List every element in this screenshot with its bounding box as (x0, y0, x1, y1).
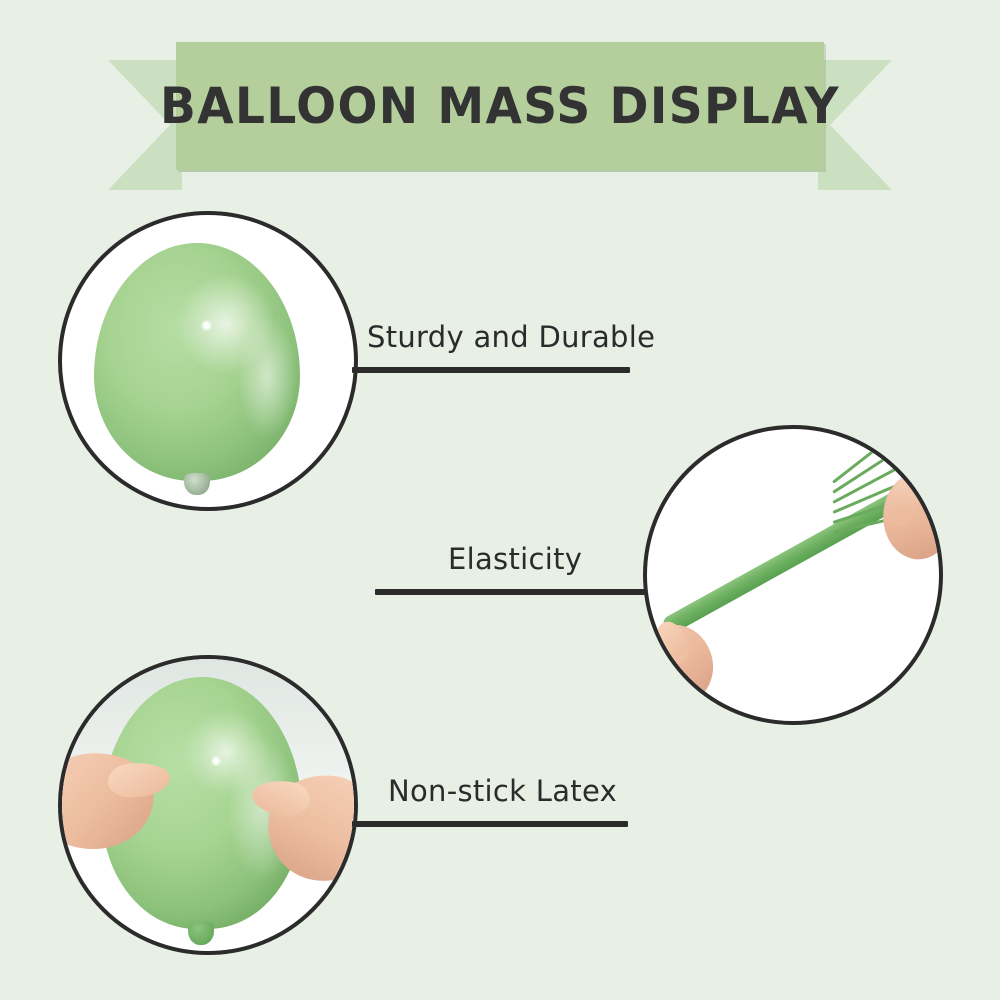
feature-image-circle-non-stick (58, 655, 358, 955)
banner: BALLOON MASS DISPLAY (108, 42, 892, 190)
balloon-neck-icon (184, 473, 210, 495)
feature-label-elasticity: Elasticity (448, 542, 582, 576)
page-title: BALLOON MASS DISPLAY (195, 42, 804, 170)
balloon-highlight-icon (212, 757, 220, 765)
balloon-highlight-icon (202, 321, 211, 330)
callout-line-sturdy (352, 367, 630, 373)
feature-label-non-stick: Non-stick Latex (388, 774, 617, 808)
product-feature-infographic: BALLOON MASS DISPLAY Sturdy and Durable (0, 0, 1000, 1000)
balloon-neck-icon (188, 921, 214, 945)
feature-photo-sturdy (62, 215, 354, 507)
callout-line-non-stick (352, 821, 628, 827)
feature-image-circle-sturdy (58, 211, 358, 511)
feature-image-circle-elasticity (643, 425, 943, 725)
feature-photo-elasticity (647, 429, 939, 721)
feature-photo-non-stick (62, 659, 354, 951)
feature-label-sturdy: Sturdy and Durable (367, 320, 655, 354)
balloon-icon (94, 243, 300, 481)
callout-line-elasticity (375, 589, 647, 595)
